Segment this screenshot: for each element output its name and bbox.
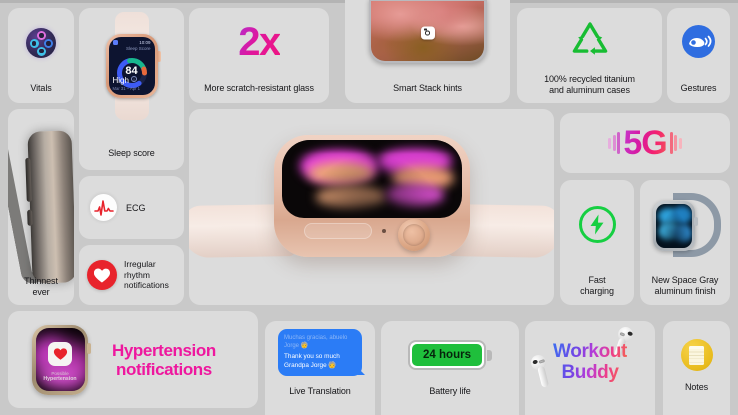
- card-live-translation-label: Live Translation: [265, 386, 375, 397]
- card-space-gray-label-line2: aluminum finish: [640, 286, 730, 297]
- feature-grid-canvas: Vitals 10:09 Sleep Score: [0, 0, 738, 415]
- action-button: [27, 210, 33, 226]
- hypertension-watch-render: Possible Hypertension: [32, 325, 88, 395]
- card-gestures-label: Gestures: [667, 83, 730, 94]
- translation-bubble: Muchas gracias, abuelo Jorge 🧓 Thank you…: [278, 329, 362, 376]
- card-recycled-label-line1: 100% recycled titanium: [517, 74, 662, 85]
- watch-microphone: [382, 229, 386, 233]
- hypertension-headline: Hypertension notifications: [112, 341, 216, 379]
- card-notes-label: Notes: [663, 382, 730, 393]
- sleep-score-watch: 10:09 Sleep Score 84 Highi Mar 31 – Ap: [106, 20, 158, 112]
- card-fast-charging[interactable]: Fast charging: [560, 180, 634, 305]
- bolt-icon: [579, 206, 616, 243]
- notes-icon: [681, 339, 713, 371]
- apple-watch-hero-render: [189, 109, 554, 305]
- card-vitals-label: Vitals: [8, 83, 74, 94]
- workout-buddy-line1: Workout: [553, 341, 627, 362]
- card-ecg[interactable]: ECG: [79, 176, 184, 239]
- card-battery-life[interactable]: 24 hours Battery life: [381, 321, 519, 415]
- signal-bars-right: [670, 132, 682, 154]
- sleep-score-rating: High: [113, 76, 129, 85]
- card-irregular-label-line1: Irregular: [124, 259, 169, 270]
- card-smart-stack-label: Smart Stack hints: [345, 83, 510, 94]
- sleep-app-icon: [113, 40, 118, 45]
- digital-crown: [157, 51, 161, 62]
- bubble-source-text: Muchas gracias, abuelo Jorge 🧓: [284, 334, 356, 350]
- card-sleep-score[interactable]: 10:09 Sleep Score 84 Highi Mar 31 – Ap: [79, 8, 184, 170]
- hypertension-headline-line2: notifications: [112, 360, 216, 379]
- workout-buddy-line2: Buddy: [553, 362, 627, 383]
- sleep-score-rating-row: Highi: [113, 76, 137, 85]
- card-fast-charging-label-line2: charging: [560, 286, 634, 297]
- card-scratch-resistant-glass[interactable]: 2x More scratch-resistant glass: [189, 8, 329, 103]
- hypertension-headline-line1: Hypertension: [112, 341, 216, 360]
- workout-buddy-headline: Workout Buddy: [553, 341, 627, 383]
- bubble-translated-text: Thank you so much Grandpa Jorge 🧓: [284, 353, 356, 370]
- card-workout-buddy[interactable]: Workout Buddy: [525, 321, 655, 415]
- card-smart-stack-hints[interactable]: Smart Stack hints: [345, 0, 510, 103]
- watch-screen: [282, 140, 462, 218]
- digital-crown: [87, 343, 91, 354]
- watch-side-button[interactable]: [304, 223, 372, 239]
- card-scratch-label: More scratch-resistant glass: [189, 83, 329, 94]
- card-battery-label: Battery life: [381, 386, 519, 397]
- side-button: [25, 158, 32, 202]
- card-thinnest-label-line1: Thinnest: [8, 276, 74, 287]
- card-thinnest-label-line2: ever: [8, 287, 74, 298]
- card-vitals[interactable]: Vitals: [8, 8, 74, 103]
- card-space-gray-label-line1: New Space Gray: [640, 275, 730, 286]
- digital-crown: [694, 217, 698, 226]
- ecg-waveform-icon: [90, 194, 117, 221]
- card-ecg-label: ECG: [126, 203, 146, 213]
- battery-icon: 24 hours: [408, 340, 492, 370]
- card-recycled-label-line2: and aluminum cases: [517, 85, 662, 96]
- space-gray-watch-render: [649, 194, 721, 258]
- card-hero-watch[interactable]: [189, 109, 554, 305]
- card-5g[interactable]: 5G: [560, 113, 730, 173]
- recycle-icon: [570, 20, 610, 56]
- sleep-score-date-range: Mar 31 – Apr 1: [113, 86, 140, 91]
- gesture-hand-icon: [682, 25, 715, 58]
- card-space-gray-finish[interactable]: New Space Gray aluminum finish: [640, 180, 730, 305]
- card-notes[interactable]: Notes: [663, 321, 730, 415]
- card-hypertension-notifications[interactable]: Possible Hypertension Hypertension notif…: [8, 311, 258, 408]
- card-sleep-score-label: Sleep score: [79, 148, 184, 159]
- card-irregular-label-line2: rhythm: [124, 270, 169, 281]
- info-icon: i: [131, 76, 137, 82]
- heart-icon: [48, 342, 72, 366]
- battery-value: 24 hours: [412, 344, 482, 366]
- card-recycled-materials[interactable]: 100% recycled titanium and aluminum case…: [517, 8, 662, 103]
- camera-icon: [421, 26, 435, 39]
- card-live-translation[interactable]: Muchas gracias, abuelo Jorge 🧓 Thank you…: [265, 321, 375, 415]
- card-fast-charging-label-line1: Fast: [560, 275, 634, 286]
- scratch-headline: 2x: [238, 20, 280, 65]
- watch-case: [274, 135, 470, 257]
- sleep-score-title: Sleep Score: [126, 46, 151, 51]
- hypertension-watch-line2: Hypertension: [36, 376, 85, 382]
- card-thinnest-ever[interactable]: Thinnest ever: [8, 109, 74, 305]
- watch-digital-crown[interactable]: [398, 219, 430, 251]
- heart-icon: [87, 260, 117, 290]
- vitals-icon: [26, 28, 56, 58]
- card-irregular-label-line3: notifications: [124, 280, 169, 291]
- smart-stack-watch-face: [369, 0, 487, 63]
- signal-bars-left: [608, 132, 620, 154]
- card-irregular-rhythm[interactable]: Irregular rhythm notifications: [79, 245, 184, 305]
- 5g-headline: 5G: [623, 124, 666, 163]
- card-gestures[interactable]: Gestures: [667, 8, 730, 103]
- watch-time: 10:09: [139, 40, 150, 45]
